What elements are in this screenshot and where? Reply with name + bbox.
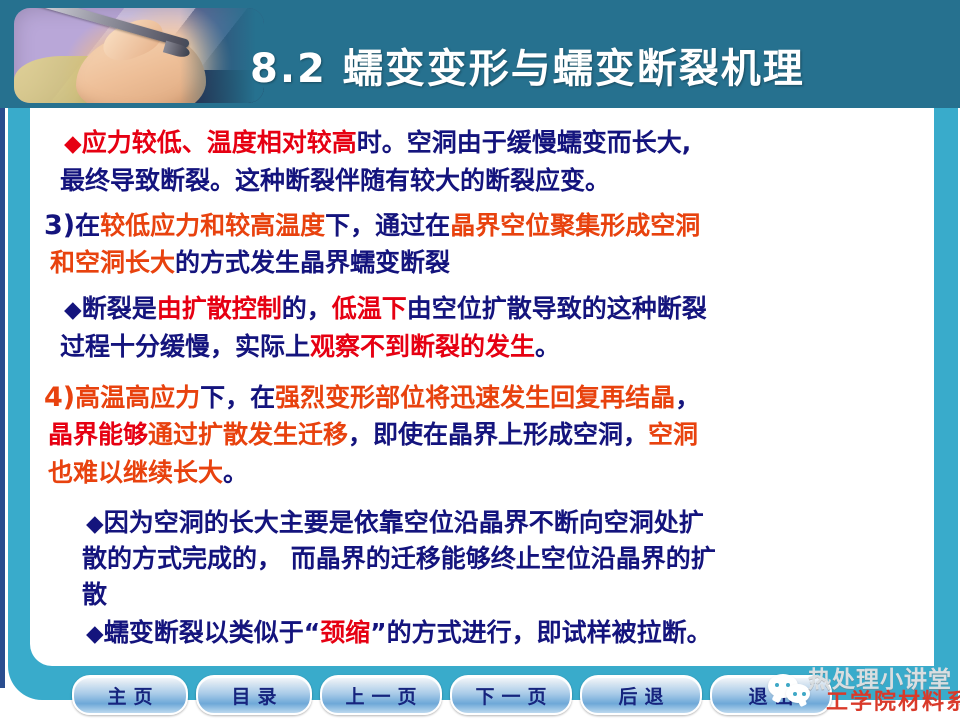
item-4-seg-10: 。 — [223, 458, 248, 487]
item-4-number: 4) — [44, 382, 75, 413]
item-4-line-2: 晶界能够通过扩散发生迁移，即使在晶界上形成空洞，空洞 — [48, 422, 698, 448]
diamond-bullet-icon: ◆ — [86, 511, 104, 537]
slide-header: 8.2 蠕变变形与蠕变断裂机理 — [0, 0, 960, 108]
bullet-1-seg-2: 时。空洞由于缓慢蠕变而长大, — [357, 128, 692, 157]
bullet-4-line-1: ◆蠕变断裂以类似于“颈缩”的方式进行，即试样被拉断。 — [86, 620, 712, 646]
nav-button-prev-page[interactable]: 上一页 — [320, 675, 442, 715]
bottom-navigation-bar: 主页 目录 上一页 下一页 后退 退出 — [0, 672, 960, 720]
item-4-seg-6: 通过扩散发生迁移 — [148, 420, 348, 449]
bullet-1-seg-1: 应力较低、温度相对较高 — [82, 128, 357, 157]
item-3-seg-5: 和空洞长大 — [50, 248, 175, 277]
bullet-4-seg-3: ”的方式进行，即试样被拉断。 — [370, 618, 711, 647]
hand-holding-pen-photo — [14, 8, 264, 103]
item-4-seg-1: 高温高应力 — [75, 383, 200, 412]
item-3-line-1: 3)在较低应力和较高温度下，通过在晶界空位聚集形成空洞 — [44, 212, 700, 240]
item-3-line-2: 和空洞长大的方式发生晶界蠕变断裂 — [50, 250, 450, 276]
item-4-seg-8: 空洞 — [648, 420, 698, 449]
bullet-2-seg-3: 的， — [282, 294, 332, 323]
bullet-2-seg-1: 断裂是 — [82, 294, 157, 323]
item-4-seg-4: ， — [675, 383, 700, 412]
item-4-seg-9: 也难以继续长大 — [48, 458, 223, 487]
bullet-2-seg-6: 过程十分缓慢，实际上 — [60, 332, 310, 361]
bullet-2-seg-4: 低温下 — [332, 294, 407, 323]
bullet-1-line-1: ◆应力较低、温度相对较高时。空洞由于缓慢蠕变而长大, — [64, 130, 691, 156]
item-4-line-3: 也难以继续长大。 — [48, 460, 248, 486]
diamond-bullet-icon: ◆ — [86, 621, 104, 647]
nav-button-contents[interactable]: 目录 — [196, 675, 312, 715]
item-4-seg-5: 晶界能够 — [48, 420, 148, 449]
bullet-2-line-1: ◆断裂是由扩散控制的，低温下由空位扩散导致的这种断裂 — [64, 296, 707, 322]
nav-button-home[interactable]: 主页 — [72, 675, 188, 715]
bullet-2-seg-8: 。 — [535, 332, 560, 361]
item-3-seg-1: 在 — [75, 211, 100, 240]
frame-left-accent-bar — [0, 88, 5, 688]
slide-body: ◆应力较低、温度相对较高时。空洞由于缓慢蠕变而长大, 最终导致断裂。这种断裂伴随… — [34, 104, 932, 652]
item-4-seg-7: ，即使在晶界上形成空洞， — [348, 420, 648, 449]
bullet-2-seg-7: 观察不到断裂的发生 — [310, 332, 535, 361]
item-4-seg-2: 下，在 — [200, 383, 275, 412]
nav-button-exit[interactable]: 退出 — [710, 675, 832, 715]
nav-button-next-page[interactable]: 下一页 — [450, 675, 572, 715]
item-4-line-1: 4)高温高应力下，在强烈变形部位将迅速发生回复再结晶， — [44, 384, 700, 412]
slide-canvas: 8.2 蠕变变形与蠕变断裂机理 ◆应力较低、温度相对较高时。空洞由于缓慢蠕变而长… — [0, 0, 960, 720]
bullet-2-seg-2: 由扩散控制 — [157, 294, 282, 323]
bullet-1-line-2: 最终导致断裂。这种断裂伴随有较大的断裂应变。 — [60, 168, 610, 194]
bullet-3-seg-1: 因为空洞的长大主要是依靠空位沿晶界不断向空洞处扩 — [104, 508, 704, 537]
page-title: 8.2 蠕变变形与蠕变断裂机理 — [250, 36, 940, 94]
bullet-3-line-3: 散 — [82, 582, 107, 608]
bullet-3-line-2: 散的方式完成的， 而晶界的迁移能够终止空位沿晶界的扩 — [82, 546, 716, 572]
bullet-2-line-2: 过程十分缓慢，实际上观察不到断裂的发生。 — [60, 334, 560, 360]
bullet-4-seg-1: 蠕变断裂以类似于“ — [104, 618, 320, 647]
bullet-4-seg-2: 颈缩 — [320, 618, 370, 647]
item-3-number: 3) — [44, 210, 75, 241]
diamond-bullet-icon: ◆ — [64, 131, 82, 157]
bullet-3-line-1: ◆因为空洞的长大主要是依靠空位沿晶界不断向空洞处扩 — [86, 510, 704, 536]
diamond-bullet-icon: ◆ — [64, 297, 82, 323]
item-4-seg-3: 强烈变形部位将迅速发生回复再结晶 — [275, 383, 675, 412]
item-3-seg-3: 下，通过在 — [325, 211, 450, 240]
item-3-seg-2: 较低应力和较高温度 — [100, 211, 325, 240]
item-3-seg-6: 的方式发生晶界蠕变断裂 — [175, 248, 450, 277]
item-3-seg-4: 晶界空位聚集形成空洞 — [450, 211, 700, 240]
bullet-2-seg-5: 由空位扩散导致的这种断裂 — [407, 294, 707, 323]
nav-button-back[interactable]: 后退 — [580, 675, 702, 715]
